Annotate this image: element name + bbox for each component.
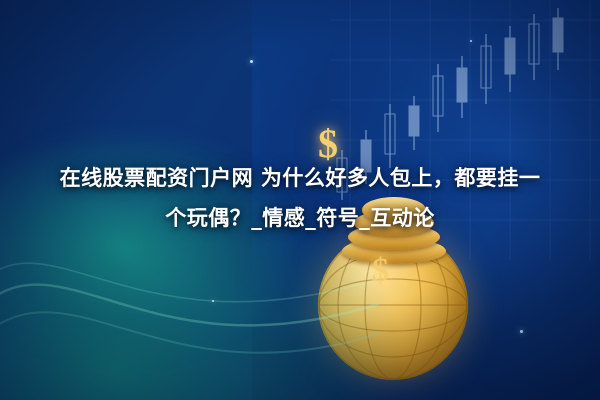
page-title: 在线股票配资门户网 为什么好多人包上，都要挂一 个玩偶？_情感_符号_互动论 bbox=[0, 158, 600, 238]
promo-banner: $ $ 在线股票配资门户网 为什么好多人包上，都要挂一 个玩偶？_情感_符号_互… bbox=[0, 0, 600, 400]
